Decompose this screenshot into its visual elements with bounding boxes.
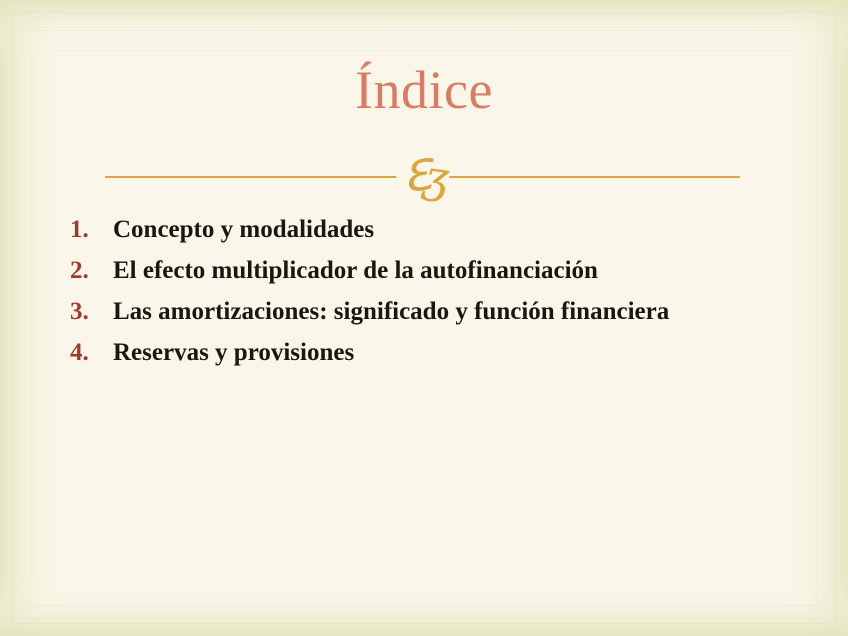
list-item-label: El efecto multiplicador de la autofinanc… bbox=[113, 253, 784, 289]
agenda-list: 1. Concepto y modalidades 2. El efecto m… bbox=[64, 212, 784, 376]
list-item: 4. Reservas y provisiones bbox=[64, 335, 784, 371]
list-item-number: 3. bbox=[64, 294, 113, 330]
list-item-label: Concepto y modalidades bbox=[113, 212, 784, 248]
presentation-slide: Índice ℇʒ 1. Concepto y modalidades 2. E… bbox=[0, 0, 848, 636]
list-item-label: Reservas y provisiones bbox=[113, 335, 784, 371]
slide-title: Índice bbox=[0, 62, 848, 119]
list-item: 3. Las amortizaciones: significado y fun… bbox=[64, 294, 784, 330]
list-item: 1. Concepto y modalidades bbox=[64, 212, 784, 248]
title-divider: ℇʒ bbox=[105, 176, 740, 178]
list-item: 2. El efecto multiplicador de la autofin… bbox=[64, 253, 784, 289]
list-item-number: 1. bbox=[64, 212, 113, 248]
flourish-ornament-icon: ℇʒ bbox=[396, 156, 450, 198]
list-item-number: 4. bbox=[64, 335, 113, 371]
list-item-label: Las amortizaciones: significado y funció… bbox=[113, 294, 784, 330]
list-item-number: 2. bbox=[64, 253, 113, 289]
